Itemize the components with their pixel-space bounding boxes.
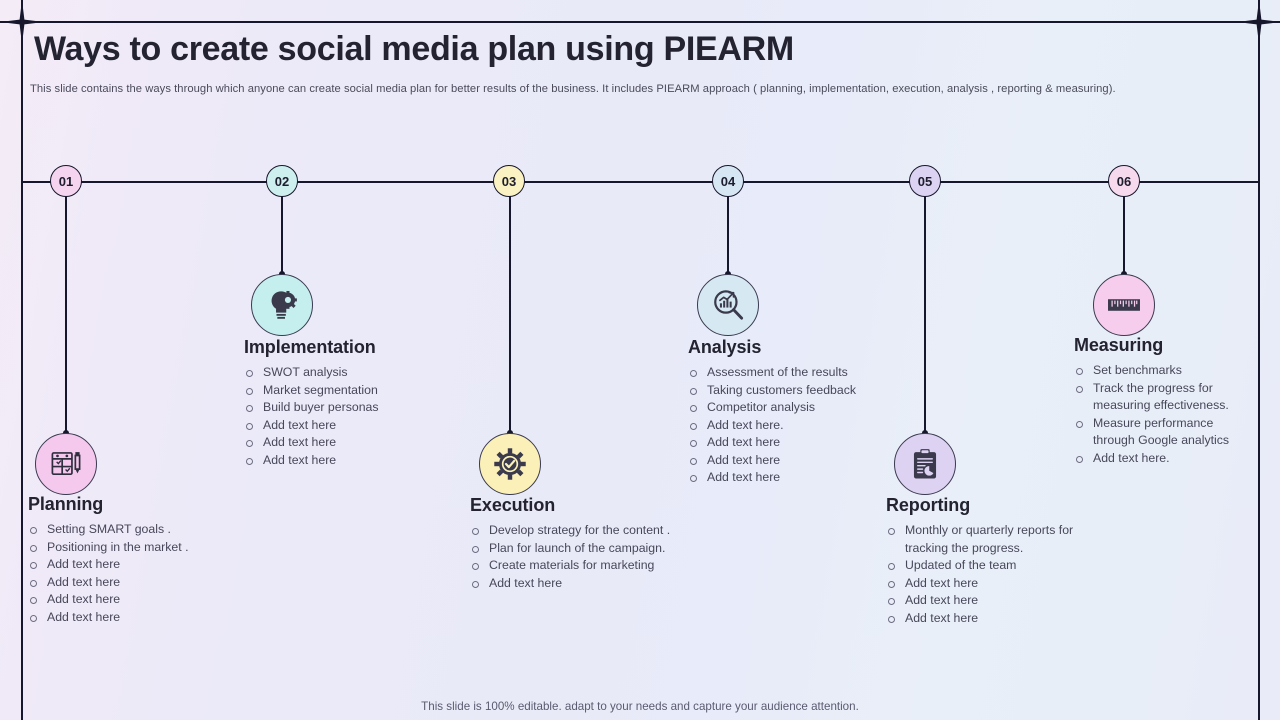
- list-item: Track the progress for measuring effecti…: [1074, 380, 1254, 415]
- icon-bubble-measuring[interactable]: [1093, 274, 1155, 336]
- timeline-node-03[interactable]: 03: [493, 165, 525, 197]
- section-title: Measuring: [1074, 335, 1254, 356]
- list-item: Add text here: [688, 434, 903, 452]
- section-analysis: Analysis Assessment of the results Takin…: [688, 337, 903, 487]
- calendar-planner-icon: [49, 447, 83, 481]
- connector-line-04: [727, 195, 729, 275]
- connector-line-02: [281, 195, 283, 275]
- connector-line-03: [509, 195, 511, 433]
- list-item: Market segmentation: [244, 382, 474, 400]
- list-item: Assessment of the results: [688, 364, 903, 382]
- section-title: Reporting: [886, 495, 1101, 516]
- icon-bubble-implementation[interactable]: [251, 274, 313, 336]
- list-item: Setting SMART goals .: [28, 521, 258, 539]
- list-item: Add text here: [28, 609, 258, 627]
- ruler-icon: [1107, 288, 1141, 322]
- timeline-node-04[interactable]: 04: [712, 165, 744, 197]
- timeline-node-label: 06: [1117, 174, 1131, 189]
- icon-bubble-execution[interactable]: [479, 433, 541, 495]
- list-item: Add text here.: [1074, 450, 1254, 468]
- section-list: Develop strategy for the content . Plan …: [470, 522, 720, 592]
- section-implementation: Implementation SWOT analysis Market segm…: [244, 337, 474, 469]
- timeline-node-label: 01: [59, 174, 73, 189]
- section-title: Implementation: [244, 337, 474, 358]
- timeline-node-label: 04: [721, 174, 735, 189]
- magnifier-chart-icon: [711, 288, 745, 322]
- list-item: Add text here: [688, 469, 903, 487]
- list-item: Create materials for marketing: [470, 557, 720, 575]
- list-item: Add text here: [886, 610, 1101, 628]
- list-item: Set benchmarks: [1074, 362, 1254, 380]
- list-item: Taking customers feedback: [688, 382, 903, 400]
- section-list: SWOT analysis Market segmentation Build …: [244, 364, 474, 469]
- section-list: Assessment of the results Taking custome…: [688, 364, 903, 487]
- icon-bubble-planning[interactable]: [35, 433, 97, 495]
- list-item: Positioning in the market .: [28, 539, 258, 557]
- icon-bubble-analysis[interactable]: [697, 274, 759, 336]
- list-item: Add text here: [470, 575, 720, 593]
- section-planning: Planning Setting SMART goals . Positioni…: [28, 494, 258, 626]
- list-item: Add text here: [886, 592, 1101, 610]
- frame-left-border: [21, 0, 23, 720]
- page-title: Ways to create social media plan using P…: [34, 30, 794, 69]
- timeline-node-02[interactable]: 02: [266, 165, 298, 197]
- lightbulb-gear-icon: [265, 288, 299, 322]
- slide-footer-note: This slide is 100% editable. adapt to yo…: [0, 700, 1280, 713]
- frame-top-border: [0, 21, 1280, 23]
- icon-bubble-reporting[interactable]: [894, 433, 956, 495]
- list-item: Add text here: [244, 434, 474, 452]
- timeline-node-label: 02: [275, 174, 289, 189]
- list-item: Add text here: [244, 417, 474, 435]
- list-item: Competitor analysis: [688, 399, 903, 417]
- slide-canvas: Ways to create social media plan using P…: [0, 0, 1280, 720]
- connector-line-06: [1123, 195, 1125, 275]
- list-item: Updated of the team: [886, 557, 1101, 575]
- list-item: SWOT analysis: [244, 364, 474, 382]
- timeline-node-label: 03: [502, 174, 516, 189]
- list-item: Add text here: [244, 452, 474, 470]
- clipboard-piechart-icon: [908, 447, 942, 481]
- section-title: Analysis: [688, 337, 903, 358]
- list-item: Add text here: [28, 574, 258, 592]
- section-list: Monthly or quarterly reports for trackin…: [886, 522, 1101, 627]
- list-item: Measure performance through Google analy…: [1074, 415, 1254, 450]
- list-item: Plan for launch of the campaign.: [470, 540, 720, 558]
- timeline-node-06[interactable]: 06: [1108, 165, 1140, 197]
- list-item: Add text here.: [688, 417, 903, 435]
- section-list: Setting SMART goals . Positioning in the…: [28, 521, 258, 626]
- timeline-node-01[interactable]: 01: [50, 165, 82, 197]
- frame-right-border: [1258, 0, 1260, 720]
- list-item: Add text here: [886, 575, 1101, 593]
- list-item: Monthly or quarterly reports for trackin…: [886, 522, 1101, 557]
- list-item: Develop strategy for the content .: [470, 522, 720, 540]
- section-execution: Execution Develop strategy for the conte…: [470, 495, 720, 592]
- list-item: Build buyer personas: [244, 399, 474, 417]
- section-title: Planning: [28, 494, 258, 515]
- section-list: Set benchmarks Track the progress for me…: [1074, 362, 1254, 467]
- page-subtitle: This slide contains the ways through whi…: [30, 83, 1210, 95]
- timeline-node-label: 05: [918, 174, 932, 189]
- section-measuring: Measuring Set benchmarks Track the progr…: [1074, 335, 1254, 467]
- timeline-axis: [21, 181, 1259, 183]
- connector-line-01: [65, 195, 67, 433]
- section-reporting: Reporting Monthly or quarterly reports f…: [886, 495, 1101, 627]
- list-item: Add text here: [28, 556, 258, 574]
- section-title: Execution: [470, 495, 720, 516]
- timeline-node-05[interactable]: 05: [909, 165, 941, 197]
- connector-line-05: [924, 195, 926, 433]
- gear-check-icon: [493, 447, 527, 481]
- list-item: Add text here: [28, 591, 258, 609]
- list-item: Add text here: [688, 452, 903, 470]
